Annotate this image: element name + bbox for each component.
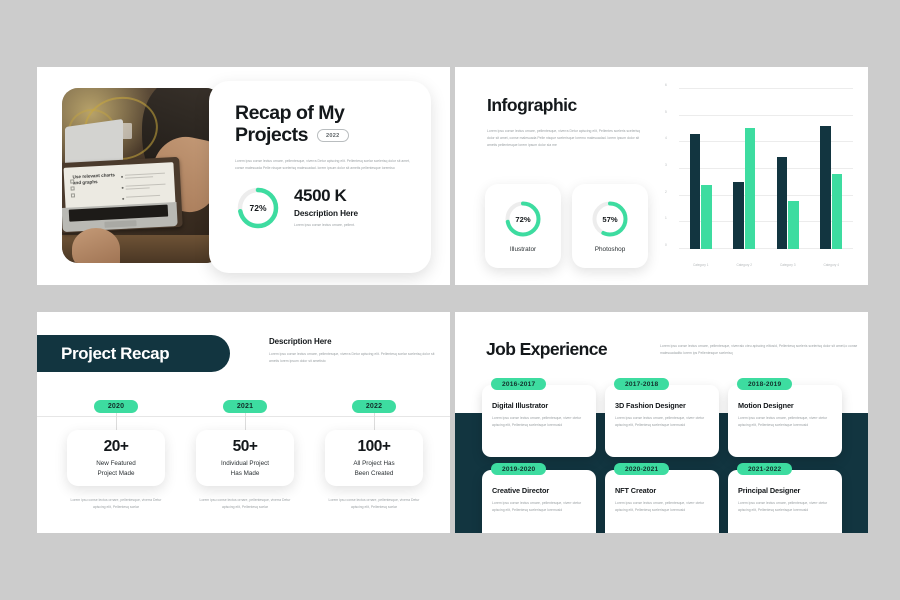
photoshop-label: Photoshop [595, 246, 626, 253]
milestone-note: Lorem ipsu conse lectus ornare, pellente… [68, 497, 164, 511]
milestone-number: 20+ [104, 438, 129, 456]
bar-chart: 0123456 Category 1Category 2Category 3Ca… [663, 89, 853, 269]
progress-donut-72: 72% [235, 185, 281, 231]
slide3-title: Project Recap [61, 344, 169, 364]
chart-bar-group [725, 89, 763, 249]
laptop-trackpad [104, 220, 136, 228]
milestone-title-line1: Individual Project [221, 460, 269, 467]
slide2-title: Infographic [487, 95, 652, 116]
milestone-2020[interactable]: 2020 20+ New Featured Project Made Lorem… [60, 400, 172, 511]
laptop-keyboard [62, 202, 177, 232]
milestone-card: 50+ Individual Project Has Made [196, 430, 294, 486]
job-note: Lorem ipsu conse lectus ornare, pellente… [615, 500, 709, 514]
milestone-year-badge: 2020 [94, 400, 138, 413]
milestone-title-line2: Project Made [97, 470, 134, 477]
chart-bar-dark[interactable] [820, 126, 831, 249]
chart-x-tick: Category 4 [812, 263, 850, 267]
job-period-badge: 2016-2017 [491, 378, 546, 390]
chart-bar-teal[interactable] [745, 128, 756, 249]
chart-bar-groups [679, 89, 853, 249]
chart-bar-dark[interactable] [733, 182, 744, 249]
job-card[interactable]: 2016-2017 Digital Illustrator Lorem ipsu… [482, 385, 596, 457]
chart-x-labels: Category 1Category 2Category 3Category 4 [679, 263, 853, 267]
milestone-note: Lorem ipsu conse lectus ornare, pellente… [197, 497, 293, 511]
milestone-title: Individual Project Has Made [221, 459, 269, 478]
slide-recap-of-my-projects[interactable]: Use relevant charts and graphs Recap of … [37, 67, 450, 285]
job-title: 3D Fashion Designer [615, 401, 709, 410]
job-period-badge: 2020-2021 [614, 463, 669, 475]
chart-y-tick: 0 [665, 243, 667, 247]
milestone-note: Lorem ipsu conse lectus ornare, pellente… [326, 497, 422, 511]
year-badge: 2022 [317, 129, 349, 142]
slide4-header: Job Experience [486, 339, 607, 360]
milestone-2021[interactable]: 2021 50+ Individual Project Has Made Lor… [189, 400, 301, 511]
chart-x-tick: Category 2 [725, 263, 763, 267]
slide1-body-text: Lorem ipsu conse lectus ornare, pellente… [235, 158, 418, 172]
screen-sidebar-icons [69, 178, 80, 199]
skill-card-photoshop[interactable]: 57% Photoshop [572, 184, 648, 268]
stat-description: Description Here [294, 209, 414, 218]
job-card[interactable]: 2018-2019 Motion Designer Lorem ipsu con… [728, 385, 842, 457]
infographic-header: Infographic Lorem ipsu conse lectus orna… [487, 95, 652, 149]
milestone-stem [116, 413, 117, 430]
chart-y-tick: 4 [665, 136, 667, 140]
milestone-title: New Featured Project Made [96, 459, 136, 478]
chart-y-tick: 3 [665, 163, 667, 167]
job-title: NFT Creator [615, 486, 709, 495]
slide1-stat-block: 4500 K Description Here Lorem ipsu conse… [294, 186, 414, 229]
job-card[interactable]: 2019-2020 Creative Director Lorem ipsu c… [482, 470, 596, 533]
chart-y-tick: 2 [665, 190, 667, 194]
job-period-badge: 2017-2018 [614, 378, 669, 390]
progress-donut-photoshop: 57% [590, 199, 630, 239]
milestone-year-badge: 2022 [352, 400, 396, 413]
job-note: Lorem ipsu conse lectus ornare, pellente… [492, 500, 586, 514]
milestone-columns: 2020 20+ New Featured Project Made Lorem… [60, 400, 430, 511]
slide-job-experience[interactable]: Job Experience Lorem ipsu conse lectus o… [455, 312, 868, 533]
job-period-badge: 2019-2020 [491, 463, 546, 475]
hero-photo: Use relevant charts and graphs [62, 88, 222, 263]
chart-bar-group [769, 89, 807, 249]
job-period-badge: 2018-2019 [737, 378, 792, 390]
chart-plot-area: 0123456 [679, 89, 853, 249]
milestone-card: 100+ All Project Has Been Created [325, 430, 423, 486]
milestone-card: 20+ New Featured Project Made [67, 430, 165, 486]
milestone-2022[interactable]: 2022 100+ All Project Has Been Created L… [318, 400, 430, 511]
chart-x-tick: Category 1 [682, 263, 720, 267]
slide-grid: Use relevant charts and graphs Recap of … [0, 0, 900, 600]
milestone-title-line2: Been Created [355, 470, 394, 477]
photoshop-percent: 57% [590, 199, 630, 239]
second-hand [72, 228, 120, 263]
slide4-title: Job Experience [486, 339, 607, 360]
slide1-title-line1: Recap of My [235, 103, 413, 125]
slide-project-recap[interactable]: Project Recap Description Here Lorem ips… [37, 312, 450, 533]
job-note: Lorem ipsu conse lectus ornare, pellente… [738, 500, 832, 514]
job-note: Lorem ipsu conse lectus ornare, pellente… [615, 415, 709, 429]
job-card[interactable]: 2017-2018 3D Fashion Designer Lorem ipsu… [605, 385, 719, 457]
slide3-desc-heading: Description Here [269, 337, 437, 346]
laptop-device: Use relevant charts and graphs [62, 157, 182, 233]
chart-y-tick: 6 [665, 83, 667, 87]
stat-number: 4500 K [294, 186, 414, 206]
recap-content-card: Recap of My Projects 2022 Lorem ipsu con… [209, 81, 431, 273]
donut-value-label: 72% [235, 185, 281, 231]
keyboard-keys [69, 204, 168, 221]
chart-y-tick: 1 [665, 216, 667, 220]
illustrator-percent: 72% [503, 199, 543, 239]
chart-bar-teal[interactable] [832, 174, 843, 249]
chart-bar-group [682, 89, 720, 249]
milestone-stem [245, 413, 246, 430]
job-cards-grid: 2016-2017 Digital Illustrator Lorem ipsu… [482, 385, 842, 533]
job-card[interactable]: 2020-2021 NFT Creator Lorem ipsu conse l… [605, 470, 719, 533]
job-title: Digital Illustrator [492, 401, 586, 410]
slide-infographic[interactable]: Infographic Lorem ipsu conse lectus orna… [455, 67, 868, 285]
chart-bar-group [812, 89, 850, 249]
slide3-desc-body: Lorem ipsu conse lectus ornare, pellente… [269, 351, 437, 365]
progress-donut-illustrator: 72% [503, 199, 543, 239]
slide2-body-text: Lorem ipsu conse lectus ornare, pellente… [487, 128, 642, 149]
stat-subtext: Lorem ipsu conse lectus ornare, pellent. [294, 222, 414, 229]
job-note: Lorem ipsu conse lectus ornare, pellente… [738, 415, 832, 429]
job-title: Motion Designer [738, 401, 832, 410]
job-note: Lorem ipsu conse lectus ornare, pellente… [492, 415, 586, 429]
project-recap-banner: Project Recap [37, 335, 230, 372]
milestone-title-line1: New Featured [96, 460, 136, 467]
job-title: Principal Designer [738, 486, 832, 495]
chart-bar-dark[interactable] [690, 134, 701, 249]
slide3-description: Description Here Lorem ipsu conse lectus… [269, 337, 437, 365]
chart-x-tick: Category 3 [769, 263, 807, 267]
milestone-title-line1: All Project Has [353, 460, 394, 467]
milestone-stem [374, 413, 375, 430]
job-period-badge: 2021-2022 [737, 463, 792, 475]
milestone-title-line2: Has Made [231, 470, 260, 477]
job-card[interactable]: 2021-2022 Principal Designer Lorem ipsu … [728, 470, 842, 533]
slide1-title-line2: Projects [235, 125, 308, 147]
screen-bullets [121, 173, 166, 206]
chart-bar-teal[interactable] [788, 201, 799, 249]
job-title: Creative Director [492, 486, 586, 495]
slide1-stats-row: 72% 4500 K Description Here Lorem ipsu c… [235, 185, 413, 231]
skill-card-illustrator[interactable]: 72% Illustrator [485, 184, 561, 268]
chart-y-tick: 5 [665, 110, 667, 114]
milestone-title: All Project Has Been Created [353, 459, 394, 478]
chart-bar-dark[interactable] [777, 157, 788, 249]
milestone-year-badge: 2021 [223, 400, 267, 413]
milestone-number: 100+ [358, 438, 391, 456]
milestone-number: 50+ [233, 438, 258, 456]
illustrator-label: Illustrator [510, 246, 536, 253]
skill-cards: 72% Illustrator 57% Photoshop [485, 184, 648, 268]
slide4-body-text: Lorem ipsu conse lectus ornare, pellente… [660, 343, 860, 357]
chart-bar-teal[interactable] [701, 185, 712, 249]
